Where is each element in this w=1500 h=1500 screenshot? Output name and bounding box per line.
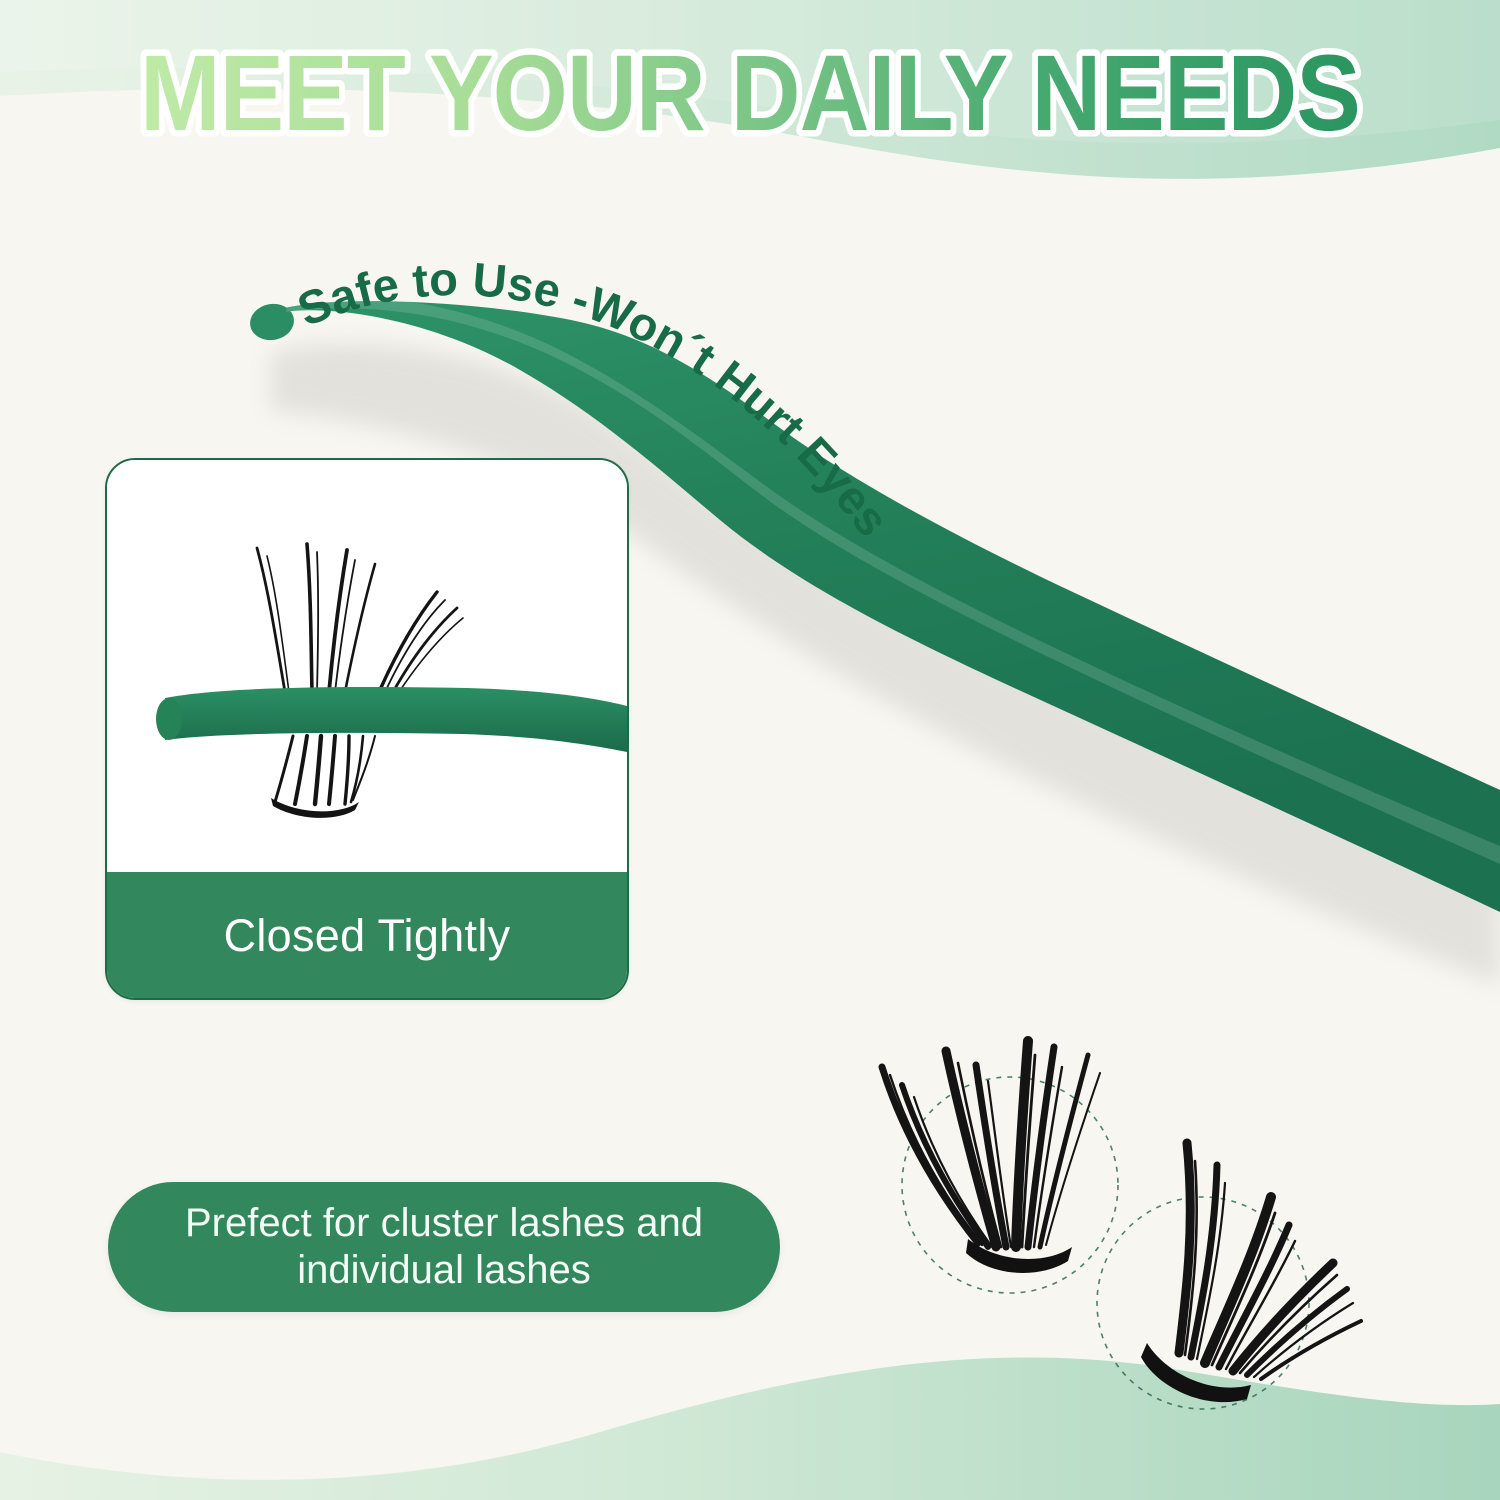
card-tweezer-arm [156,687,627,752]
card-lash-strands-lower [275,736,375,804]
product-infographic: MEET YOUR DAILY NEEDS MEET YOUR DAILY NE… [0,0,1500,1500]
closed-tightly-photo [107,460,627,872]
lash-strands-left [882,1041,1100,1247]
lash-strands-right [1179,1143,1361,1379]
card-lash-strands-upper [257,544,463,692]
lash-cluster-right [1075,1085,1385,1425]
feature-pill-label: Prefect for cluster lashes and individua… [159,1200,729,1294]
closed-tightly-card[interactable]: Closed Tightly [105,458,629,1000]
tweezer-gripping-lashes-illustration [107,460,627,872]
closed-tightly-label: Closed Tightly [224,913,511,958]
closed-tightly-footer: Closed Tightly [107,872,627,998]
feature-pill[interactable]: Prefect for cluster lashes and individua… [108,1182,780,1312]
